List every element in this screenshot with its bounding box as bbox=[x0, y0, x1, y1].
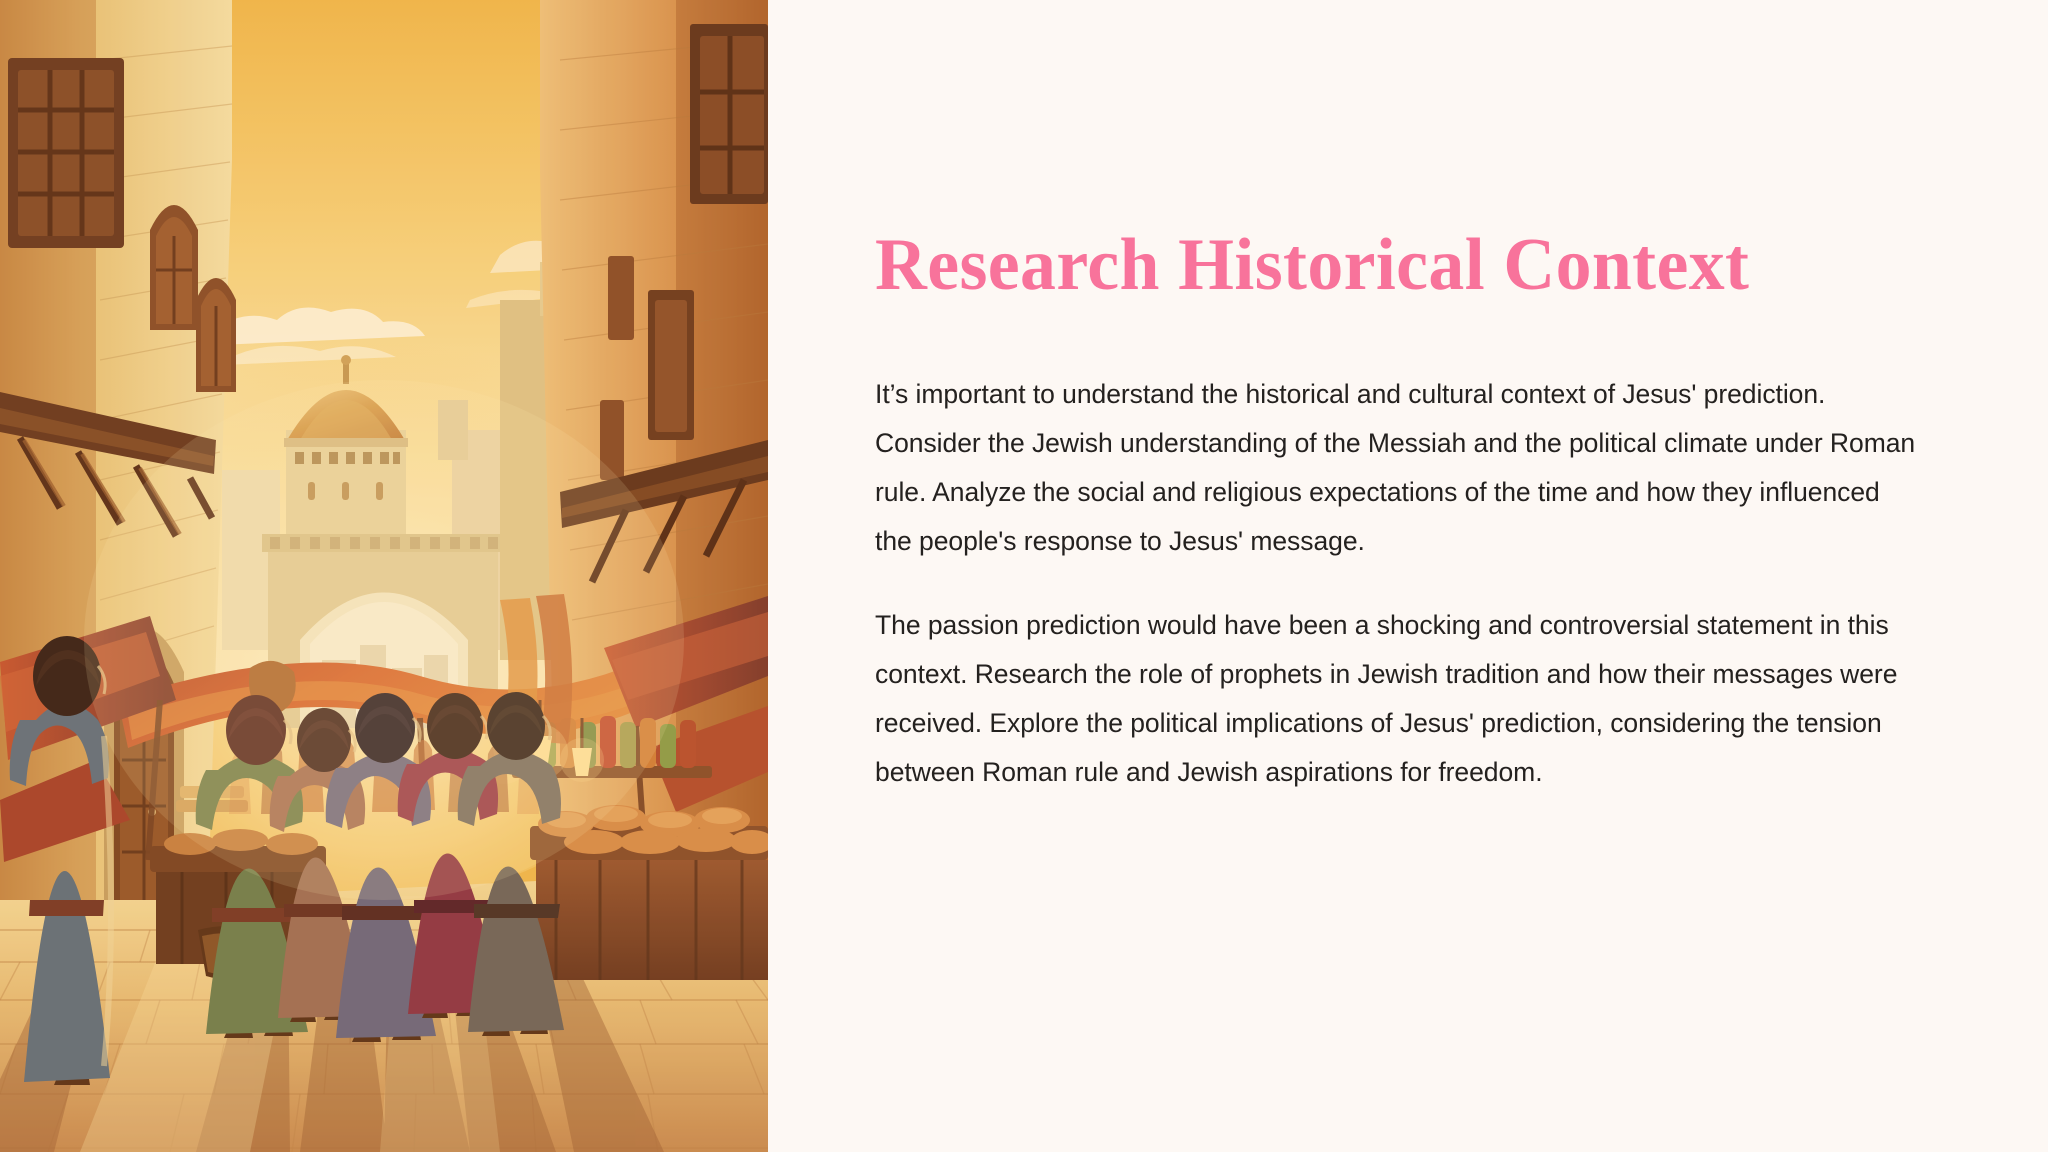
market-street-illustration bbox=[0, 0, 768, 1152]
paragraph-2: The passion prediction would have been a… bbox=[875, 601, 1920, 797]
page-title: Research Historical Context bbox=[875, 228, 1903, 302]
slide-root: Research Historical Context It’s importa… bbox=[0, 0, 2048, 1152]
content-wrapper: Research Historical Context It’s importa… bbox=[875, 228, 1935, 797]
paragraph-1: It’s important to understand the histori… bbox=[875, 370, 1920, 566]
text-panel: Research Historical Context It’s importa… bbox=[768, 0, 2048, 1152]
body-copy: It’s important to understand the histori… bbox=[875, 370, 1935, 797]
illustration-panel bbox=[0, 0, 768, 1152]
